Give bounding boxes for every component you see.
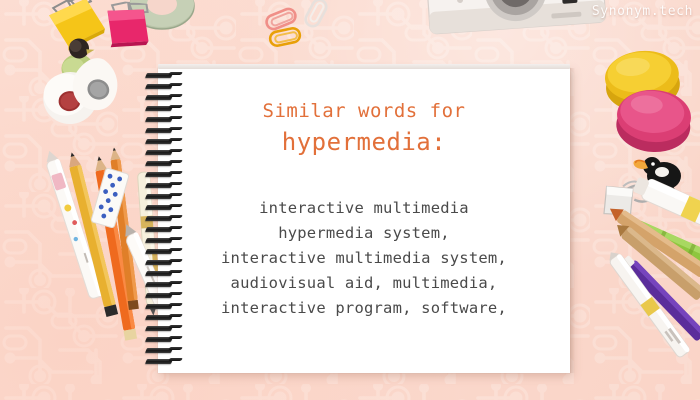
screenshot-root: Similar words for hypermedia: interactiv… [0, 0, 700, 400]
synonym-list: interactive multimediahypermedia system,… [158, 196, 570, 321]
synonym-line: interactive program, software, [158, 296, 570, 321]
page-text-block: Similar words for hypermedia: interactiv… [158, 68, 570, 373]
headword-title: hypermedia: [158, 128, 570, 156]
synonym-line: audiovisual aid, multimedia, [158, 271, 570, 296]
synonym-line: hypermedia system, [158, 221, 570, 246]
binder-clip-pink [98, 0, 159, 53]
synonym-line: interactive multimedia system, [158, 246, 570, 271]
site-watermark: Synonym.tech [592, 4, 693, 19]
notebook-edge-shadow [570, 68, 575, 373]
macaron-pink [609, 75, 698, 157]
similar-words-label: Similar words for [158, 100, 570, 122]
synonym-line: interactive multimedia [158, 196, 570, 221]
